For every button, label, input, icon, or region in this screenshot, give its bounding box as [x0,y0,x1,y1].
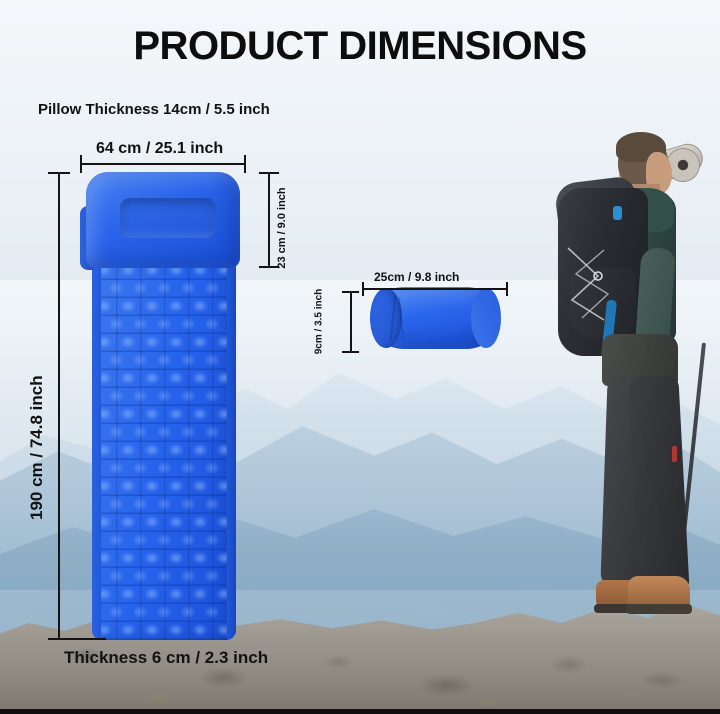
dimension-label-thickness: Thickness 6 cm / 2.3 inch [64,648,268,668]
dimension-line-width [80,163,246,165]
dimension-tick-width-left [80,155,82,173]
dimension-label-pillow-height: 23 cm / 9.0 inch [276,180,288,276]
sleeping-pad-product [80,172,246,640]
dimension-line-length [58,172,60,640]
hiker-figure [520,128,720,710]
dimension-label-length: 190 cm / 74.8 inch [27,380,47,520]
dimension-tick-packed-right [506,282,508,296]
dimension-line-pillow-height [268,172,270,268]
dimension-tick-packed-left [362,282,364,296]
dimension-tick-diameter-bottom [342,351,359,353]
infographic-canvas: PRODUCT DIMENSIONS 64 cm / 25.1 inch 190… [0,0,720,714]
dimension-label-width: 64 cm / 25.1 inch [96,140,223,158]
pad-seam-lines [92,260,236,640]
dimension-label-packed-length: 25cm / 9.8 inch [374,270,459,284]
hiker-leg-right [628,375,689,595]
dimension-tick-pillow-top [259,172,279,174]
backpack-cord [564,246,636,328]
boot-sole-right [626,604,692,614]
bottom-bar [0,709,720,714]
dimension-label-pillow-thickness: Pillow Thickness 14cm / 5.5 inch [38,101,270,118]
inflatable-pillow [86,172,240,268]
pad-edge-left [92,260,101,640]
backpack-clip [613,206,622,220]
dimension-label-packed-diameter: 9cm / 3.5 inch [314,289,325,355]
cord-lines [564,246,636,328]
packed-roll-product [370,287,500,349]
sleeping-pad-body [92,260,236,640]
pillow-indent [120,198,216,238]
dimension-tick-length-top [48,172,70,174]
pad-edge-right [227,260,236,640]
page-title: PRODUCT DIMENSIONS [0,24,720,69]
dimension-tick-width-right [244,155,246,173]
dimension-line-packed-diameter [350,291,352,353]
pants-red-accent [672,446,677,462]
dimension-tick-thickness [58,638,106,640]
roll-cap-right [471,288,501,348]
dimension-tick-diameter-top [342,291,359,293]
dimension-line-packed-length [362,288,508,290]
